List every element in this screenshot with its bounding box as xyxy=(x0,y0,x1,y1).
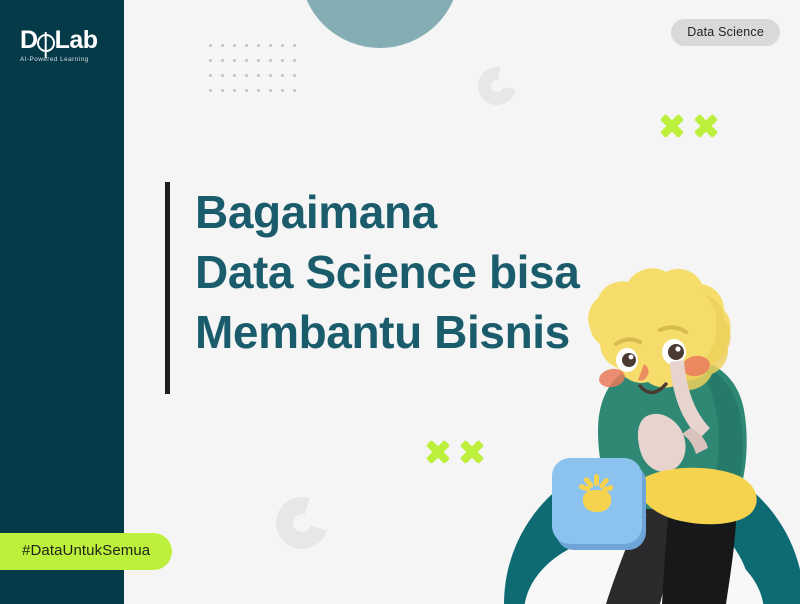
illustration-device xyxy=(552,458,646,550)
hashtag-pill[interactable]: #DataUntukSemua xyxy=(0,533,172,570)
headline-accent-rule xyxy=(165,182,170,394)
decorative-cross-icon xyxy=(659,113,685,139)
brand-logo[interactable]: D Lab AI-Powered Learning xyxy=(20,28,108,63)
logo-letters-lab: Lab xyxy=(55,28,98,53)
logo-tagline: AI-Powered Learning xyxy=(20,56,108,63)
banner-canvas: Bagaimana Data Science bisa Membantu Bis… xyxy=(0,0,800,604)
sidebar: D Lab AI-Powered Learning xyxy=(0,0,124,604)
decorative-cross-icon xyxy=(693,113,719,139)
logo-q-icon xyxy=(37,34,55,52)
decorative-arc-small xyxy=(471,60,524,113)
decorative-dot-grid xyxy=(209,44,305,104)
decorative-cross-icon xyxy=(425,439,451,465)
logo-letter-d: D xyxy=(20,28,38,53)
decorative-arc-large xyxy=(267,488,337,558)
headline-line-1: Bagaimana xyxy=(195,182,579,242)
illustration-person-holding-tablet xyxy=(494,268,800,604)
category-badge[interactable]: Data Science xyxy=(671,19,780,46)
logo-mark: D Lab xyxy=(20,28,108,53)
decorative-cross-icon xyxy=(459,439,485,465)
decorative-circle xyxy=(300,0,460,48)
